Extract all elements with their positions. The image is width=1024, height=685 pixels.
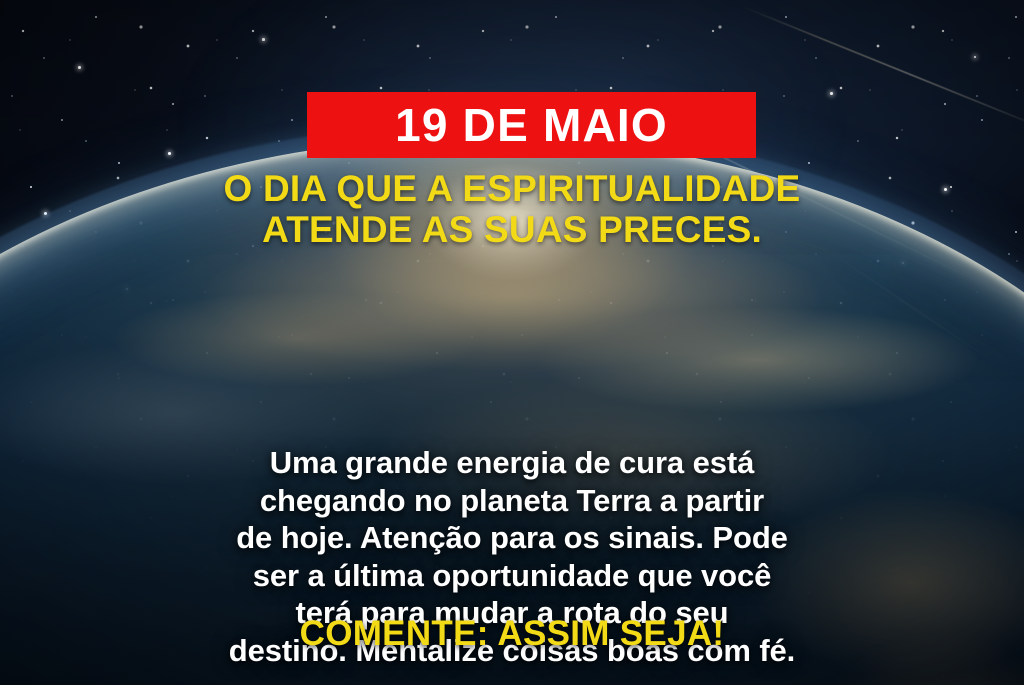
- headline-line-2: ATENDE AS SUAS PRECES.: [0, 209, 1024, 250]
- call-to-action: COMENTE: ASSIM SEJA!: [0, 614, 1024, 654]
- date-banner-label: 19 DE MAIO: [395, 102, 668, 148]
- poster-content: 19 DE MAIO O DIA QUE A ESPIRITUALIDADE A…: [0, 0, 1024, 685]
- body-line: Uma grande energia de cura está: [62, 444, 962, 482]
- body-line: ser a última oportunidade que você: [62, 557, 962, 595]
- headline-line-1: O DIA QUE A ESPIRITUALIDADE: [224, 168, 801, 209]
- body-line: chegando no planeta Terra a partir: [62, 482, 962, 520]
- date-banner: 19 DE MAIO: [307, 92, 756, 158]
- headline: O DIA QUE A ESPIRITUALIDADE ATENDE AS SU…: [0, 168, 1024, 251]
- body-line: de hoje. Atenção para os sinais. Pode: [62, 519, 962, 557]
- cta-label: COMENTE: ASSIM SEJA!: [300, 614, 725, 653]
- poster-root: 19 DE MAIO O DIA QUE A ESPIRITUALIDADE A…: [0, 0, 1024, 685]
